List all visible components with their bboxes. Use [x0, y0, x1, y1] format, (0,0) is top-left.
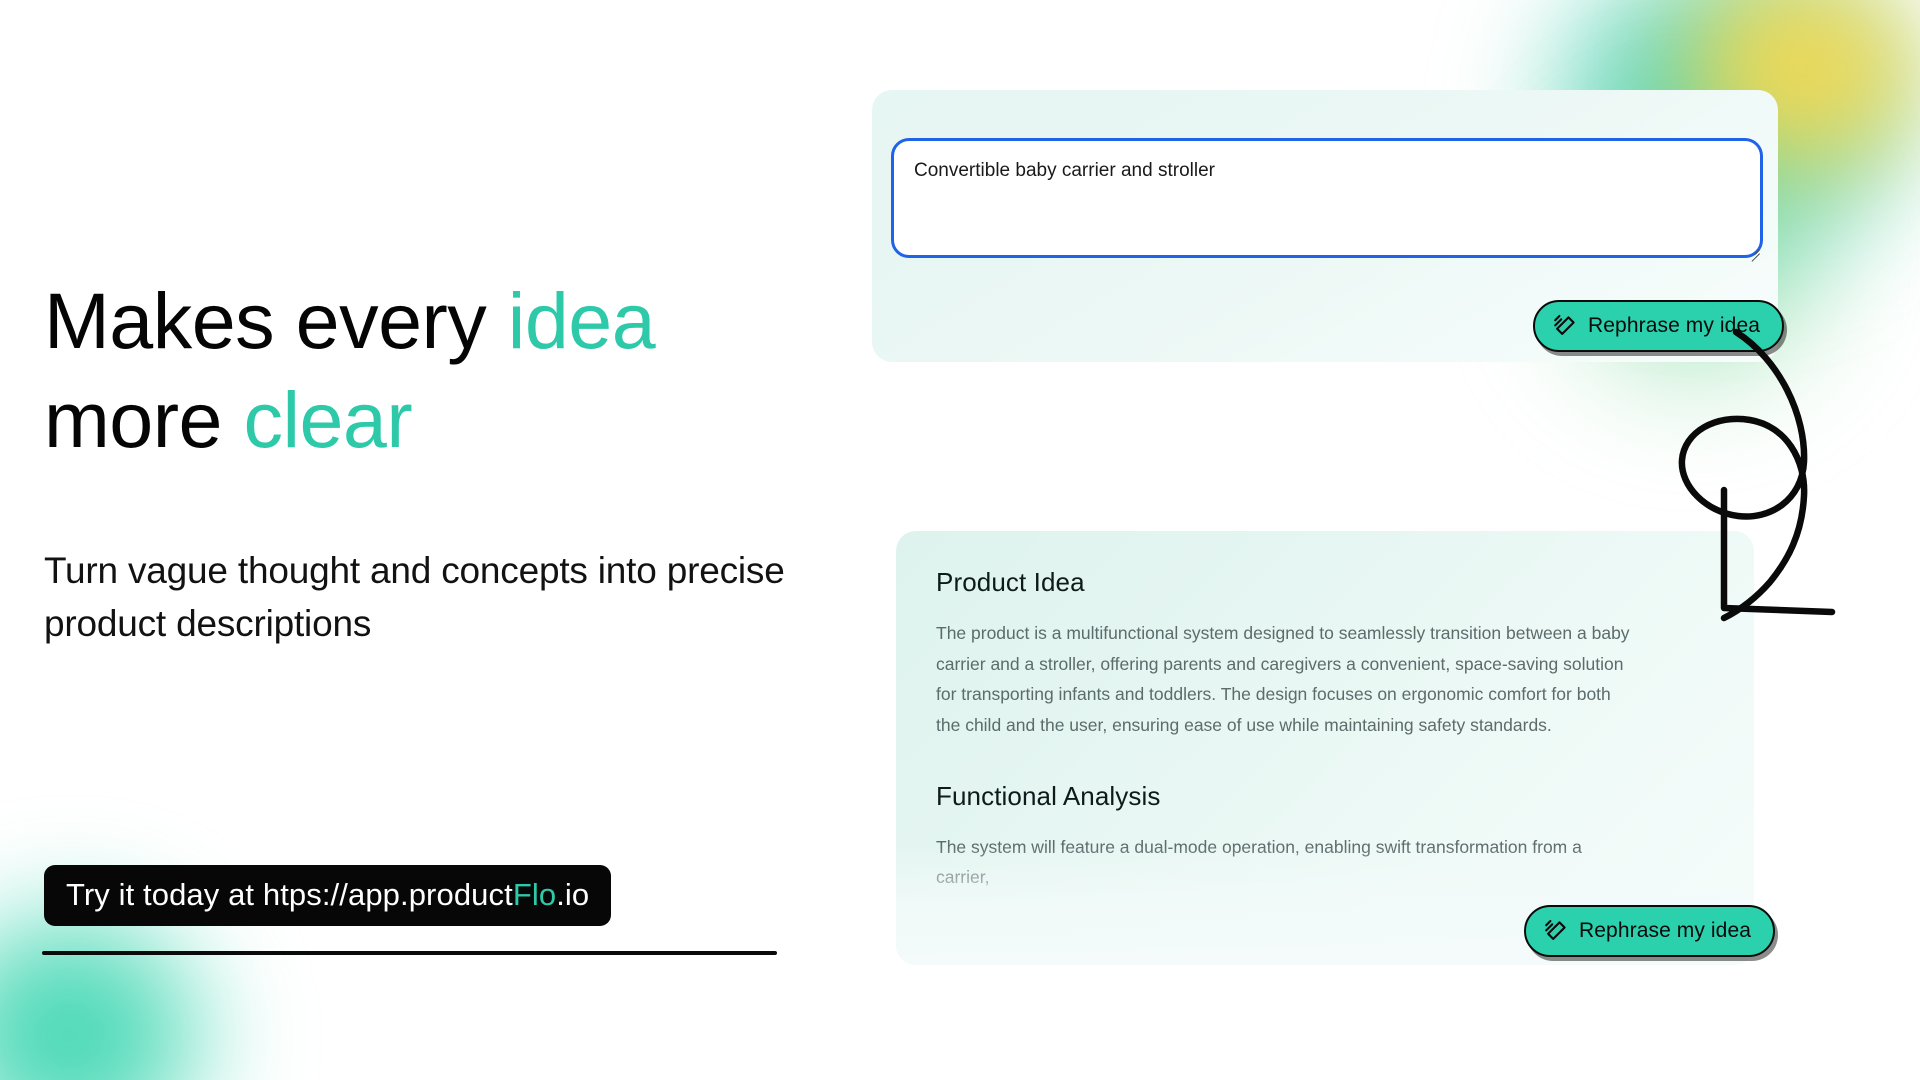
headline-line2-plain: more: [44, 375, 243, 464]
cta-brand-accent: Flo: [513, 877, 556, 912]
headline-line1-plain: Makes every: [44, 276, 508, 365]
idea-textarea[interactable]: [891, 138, 1763, 258]
rephrase-my-idea-button-top[interactable]: Rephrase my idea: [1533, 300, 1784, 352]
section-heading-functional-analysis: Functional Analysis: [936, 781, 1714, 812]
section-heading-product-idea: Product Idea: [936, 567, 1714, 598]
page-root: Makes every ideamore clear Turn vague th…: [0, 0, 1920, 1080]
result-card: Product Idea The product is a multifunct…: [896, 531, 1754, 965]
cta-banner[interactable]: Try it today at htps://app.productFlo.io: [44, 865, 784, 926]
page-headline: Makes every ideamore clear: [44, 272, 834, 470]
section-body-product-idea: The product is a multifunctional system …: [936, 618, 1636, 741]
hero-text-block: Makes every ideamore clear Turn vague th…: [44, 272, 834, 651]
section-body-functional-analysis: The system will feature a dual-mode oper…: [936, 832, 1636, 893]
rephrase-button-label-bottom: Rephrase my idea: [1579, 919, 1751, 943]
cta-suffix-text: .io: [556, 877, 589, 912]
magic-wand-icon: [1544, 919, 1568, 943]
result-card-content: Product Idea The product is a multifunct…: [896, 531, 1754, 893]
cta-underline-rule: [42, 951, 777, 955]
rephrase-button-label-top: Rephrase my idea: [1588, 314, 1760, 338]
cta-pill[interactable]: Try it today at htps://app.productFlo.io: [44, 865, 611, 926]
magic-wand-icon: [1553, 314, 1577, 338]
headline-accent-idea: idea: [508, 276, 655, 365]
headline-accent-clear: clear: [243, 375, 412, 464]
cta-prefix-text: Try it today at htps://app.product: [66, 877, 513, 912]
rephrase-my-idea-button-bottom[interactable]: Rephrase my idea: [1524, 905, 1775, 957]
textarea-resize-handle[interactable]: [1748, 243, 1760, 255]
hero-subheadline: Turn vague thought and concepts into pre…: [44, 544, 804, 651]
